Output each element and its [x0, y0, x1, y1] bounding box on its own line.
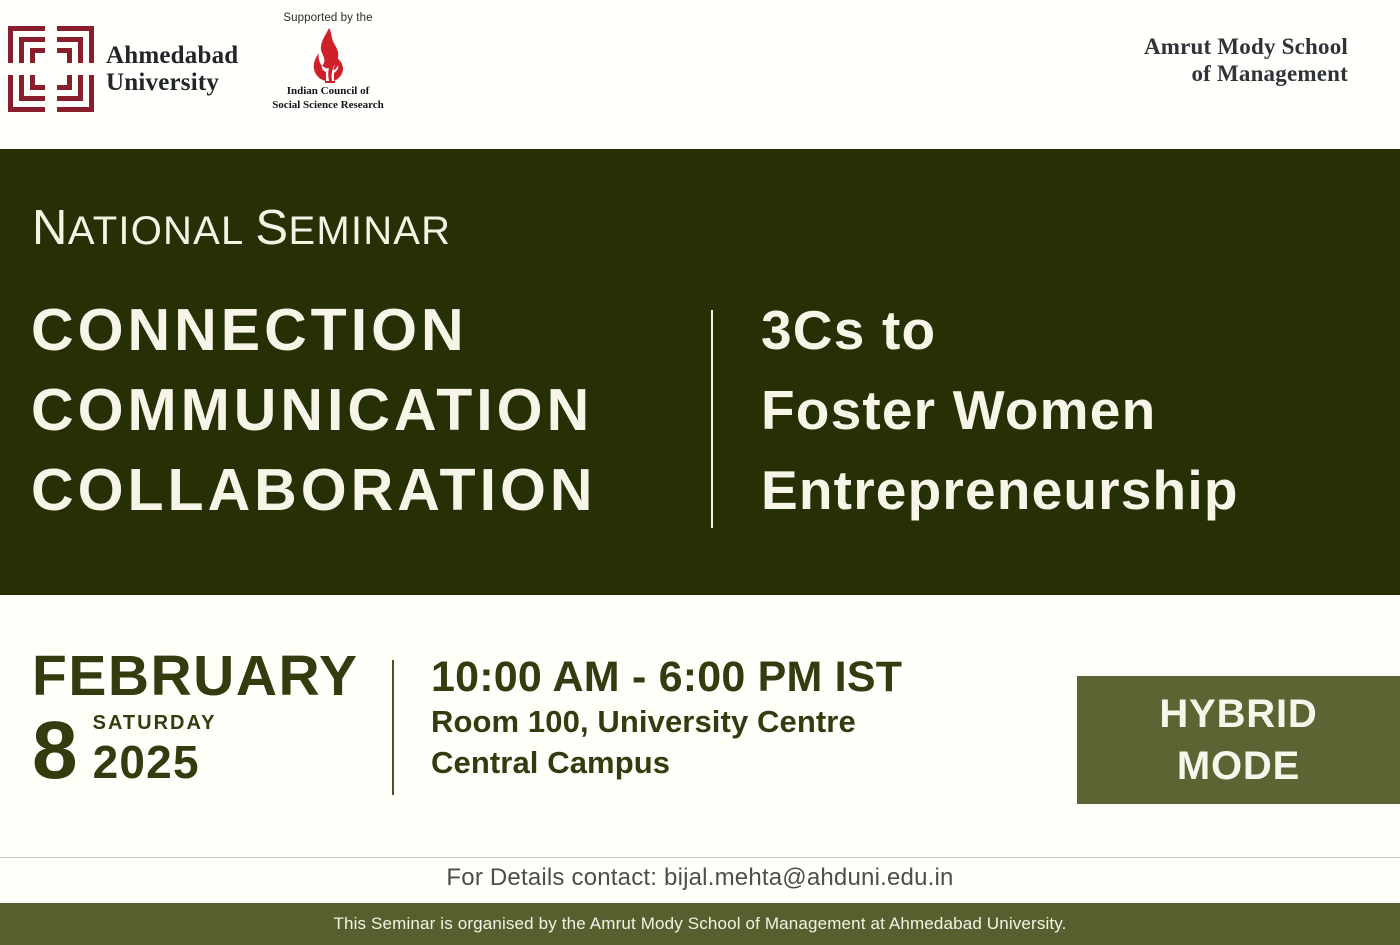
event-date-block: FEBRUARY 8 SATURDAY 2025 [32, 648, 359, 787]
kicker-cap-s: S [255, 201, 288, 255]
event-time: 10:00 AM - 6:00 PM IST [431, 653, 902, 701]
icssr-flame-icon [262, 27, 394, 83]
footer-text: This Seminar is organised by the Amrut M… [333, 914, 1066, 934]
ahmedabad-university-mark-icon [8, 26, 94, 112]
amsom-line2: of Management [1144, 60, 1348, 87]
supported-by-label: Supported by the [262, 12, 394, 24]
event-venue-line1: Room 100, University Centre [431, 701, 902, 742]
headline-3cs-words: CONNECTION COMMUNICATION COLLABORATION [31, 290, 691, 530]
headline-vertical-divider [711, 310, 713, 528]
seminar-poster: Ahmedabad University Supported by the In… [0, 0, 1400, 945]
event-year: 2025 [93, 739, 217, 785]
headline-word-collaboration: COLLABORATION [31, 450, 691, 530]
kicker-rest-seminar: EMINAR [289, 209, 452, 253]
kicker-cap-n: N [32, 201, 68, 255]
headline-word-communication: COMMUNICATION [31, 370, 691, 450]
icssr-name: Indian Council of Social Science Researc… [262, 85, 394, 113]
hybrid-mode-line1: HYBRID [1159, 688, 1317, 740]
poster-header: Ahmedabad University Supported by the In… [0, 0, 1400, 149]
hybrid-mode-badge: HYBRID MODE [1077, 676, 1400, 804]
amsom-line1: Amrut Mody School [1144, 33, 1348, 60]
hybrid-mode-line2: MODE [1159, 740, 1317, 792]
kicker-rest-national: ATIONAL [68, 209, 255, 253]
icssr-name-line1: Indian Council of [262, 85, 394, 99]
event-weekday: SATURDAY [93, 713, 217, 733]
au-name-line1: Ahmedabad [106, 42, 238, 69]
event-day: 8 [32, 716, 77, 787]
event-time-venue-block: 10:00 AM - 6:00 PM IST Room 100, Univers… [431, 653, 902, 784]
event-weekday-year: SATURDAY 2025 [93, 713, 217, 787]
event-month: FEBRUARY [32, 648, 359, 705]
title-band: NATIONAL SEMINAR CONNECTION COMMUNICATIO… [0, 149, 1400, 595]
subtitle-line1: 3Cs to [761, 290, 1361, 370]
hybrid-mode-label: HYBRID MODE [1159, 688, 1317, 792]
subtitle-line3: Entrepreneurship [761, 450, 1361, 530]
headline-subtitle: 3Cs to Foster Women Entrepreneurship [761, 290, 1361, 530]
icssr-name-line2: Social Science Research [262, 99, 394, 113]
event-venue-line2: Central Campus [431, 742, 902, 783]
icssr-logo-block: Supported by the Indian Council of Socia… [262, 12, 394, 113]
subtitle-line2: Foster Women [761, 370, 1361, 450]
ahmedabad-university-logo: Ahmedabad University [8, 26, 238, 112]
contact-line: For Details contact: bijal.mehta@ahduni.… [0, 864, 1400, 892]
amrut-mody-school-name: Amrut Mody School of Management [1144, 33, 1348, 87]
event-day-year-row: 8 SATURDAY 2025 [32, 713, 359, 787]
au-name-line2: University [106, 69, 238, 96]
event-type-kicker: NATIONAL SEMINAR [32, 204, 451, 253]
info-vertical-divider [392, 660, 394, 795]
contact-divider-rule [0, 857, 1400, 858]
poster-footer: This Seminar is organised by the Amrut M… [0, 903, 1400, 945]
ahmedabad-university-name: Ahmedabad University [106, 42, 238, 96]
headline-word-connection: CONNECTION [31, 290, 691, 370]
headline-area: CONNECTION COMMUNICATION COLLABORATION 3… [0, 290, 1400, 540]
